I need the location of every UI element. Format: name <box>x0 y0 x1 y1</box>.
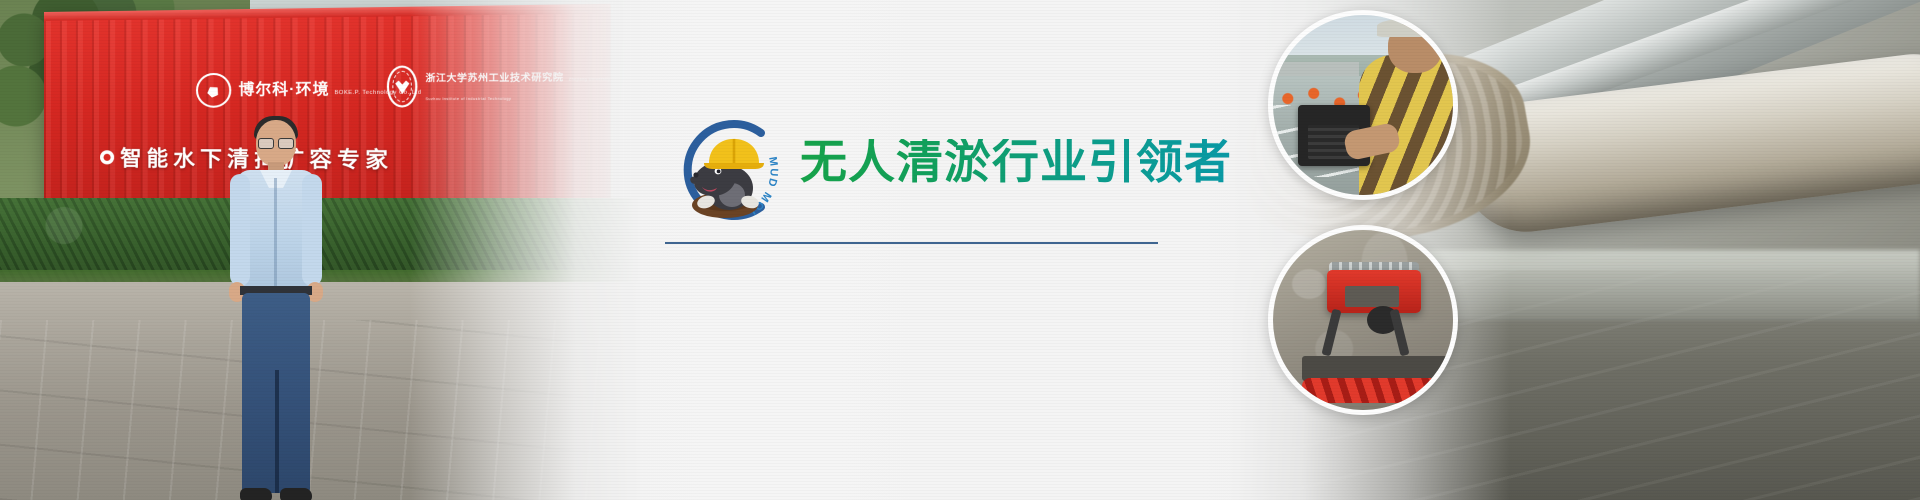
boke-seal-icon <box>196 73 231 108</box>
person-shoes <box>240 488 312 500</box>
inset1-operator-torso <box>1359 55 1458 195</box>
mud-mole-logo: MUD MOLE <box>660 105 790 235</box>
headline: 无人清淤行业引领者 <box>800 134 1232 190</box>
slogan-bullet-icon <box>100 150 114 164</box>
inset1-operator-hat <box>1377 19 1449 37</box>
boke-brand-cn: 博尔科·环境 <box>239 81 330 99</box>
inset-dredging-robot-photo <box>1268 225 1458 415</box>
center-content: MUD MOLE <box>640 0 1200 500</box>
person-right-arm <box>302 174 322 286</box>
left-photo-fade <box>410 0 640 500</box>
eyeglasses-icon <box>258 138 294 147</box>
person-left-arm <box>230 174 250 286</box>
person-leg-seam <box>275 370 279 493</box>
left-container-photo: 博尔科·环境 BOKE.P. Technology Co.,Ltd 浙江大学苏州… <box>0 0 640 500</box>
hero-banner: 博尔科·环境 BOKE.P. Technology Co.,Ltd 浙江大学苏州… <box>0 0 1920 500</box>
headline-divider <box>665 242 1158 244</box>
headline-text: 无人清淤行业引领者 <box>800 139 1232 186</box>
person-standing <box>228 120 324 500</box>
inset-operator-photo <box>1268 10 1458 200</box>
person-shirt-placket <box>274 178 277 286</box>
logo-helmet-brim <box>704 163 764 169</box>
inset2-robot-deck <box>1345 286 1399 308</box>
inset2-auger-screw <box>1302 378 1453 403</box>
